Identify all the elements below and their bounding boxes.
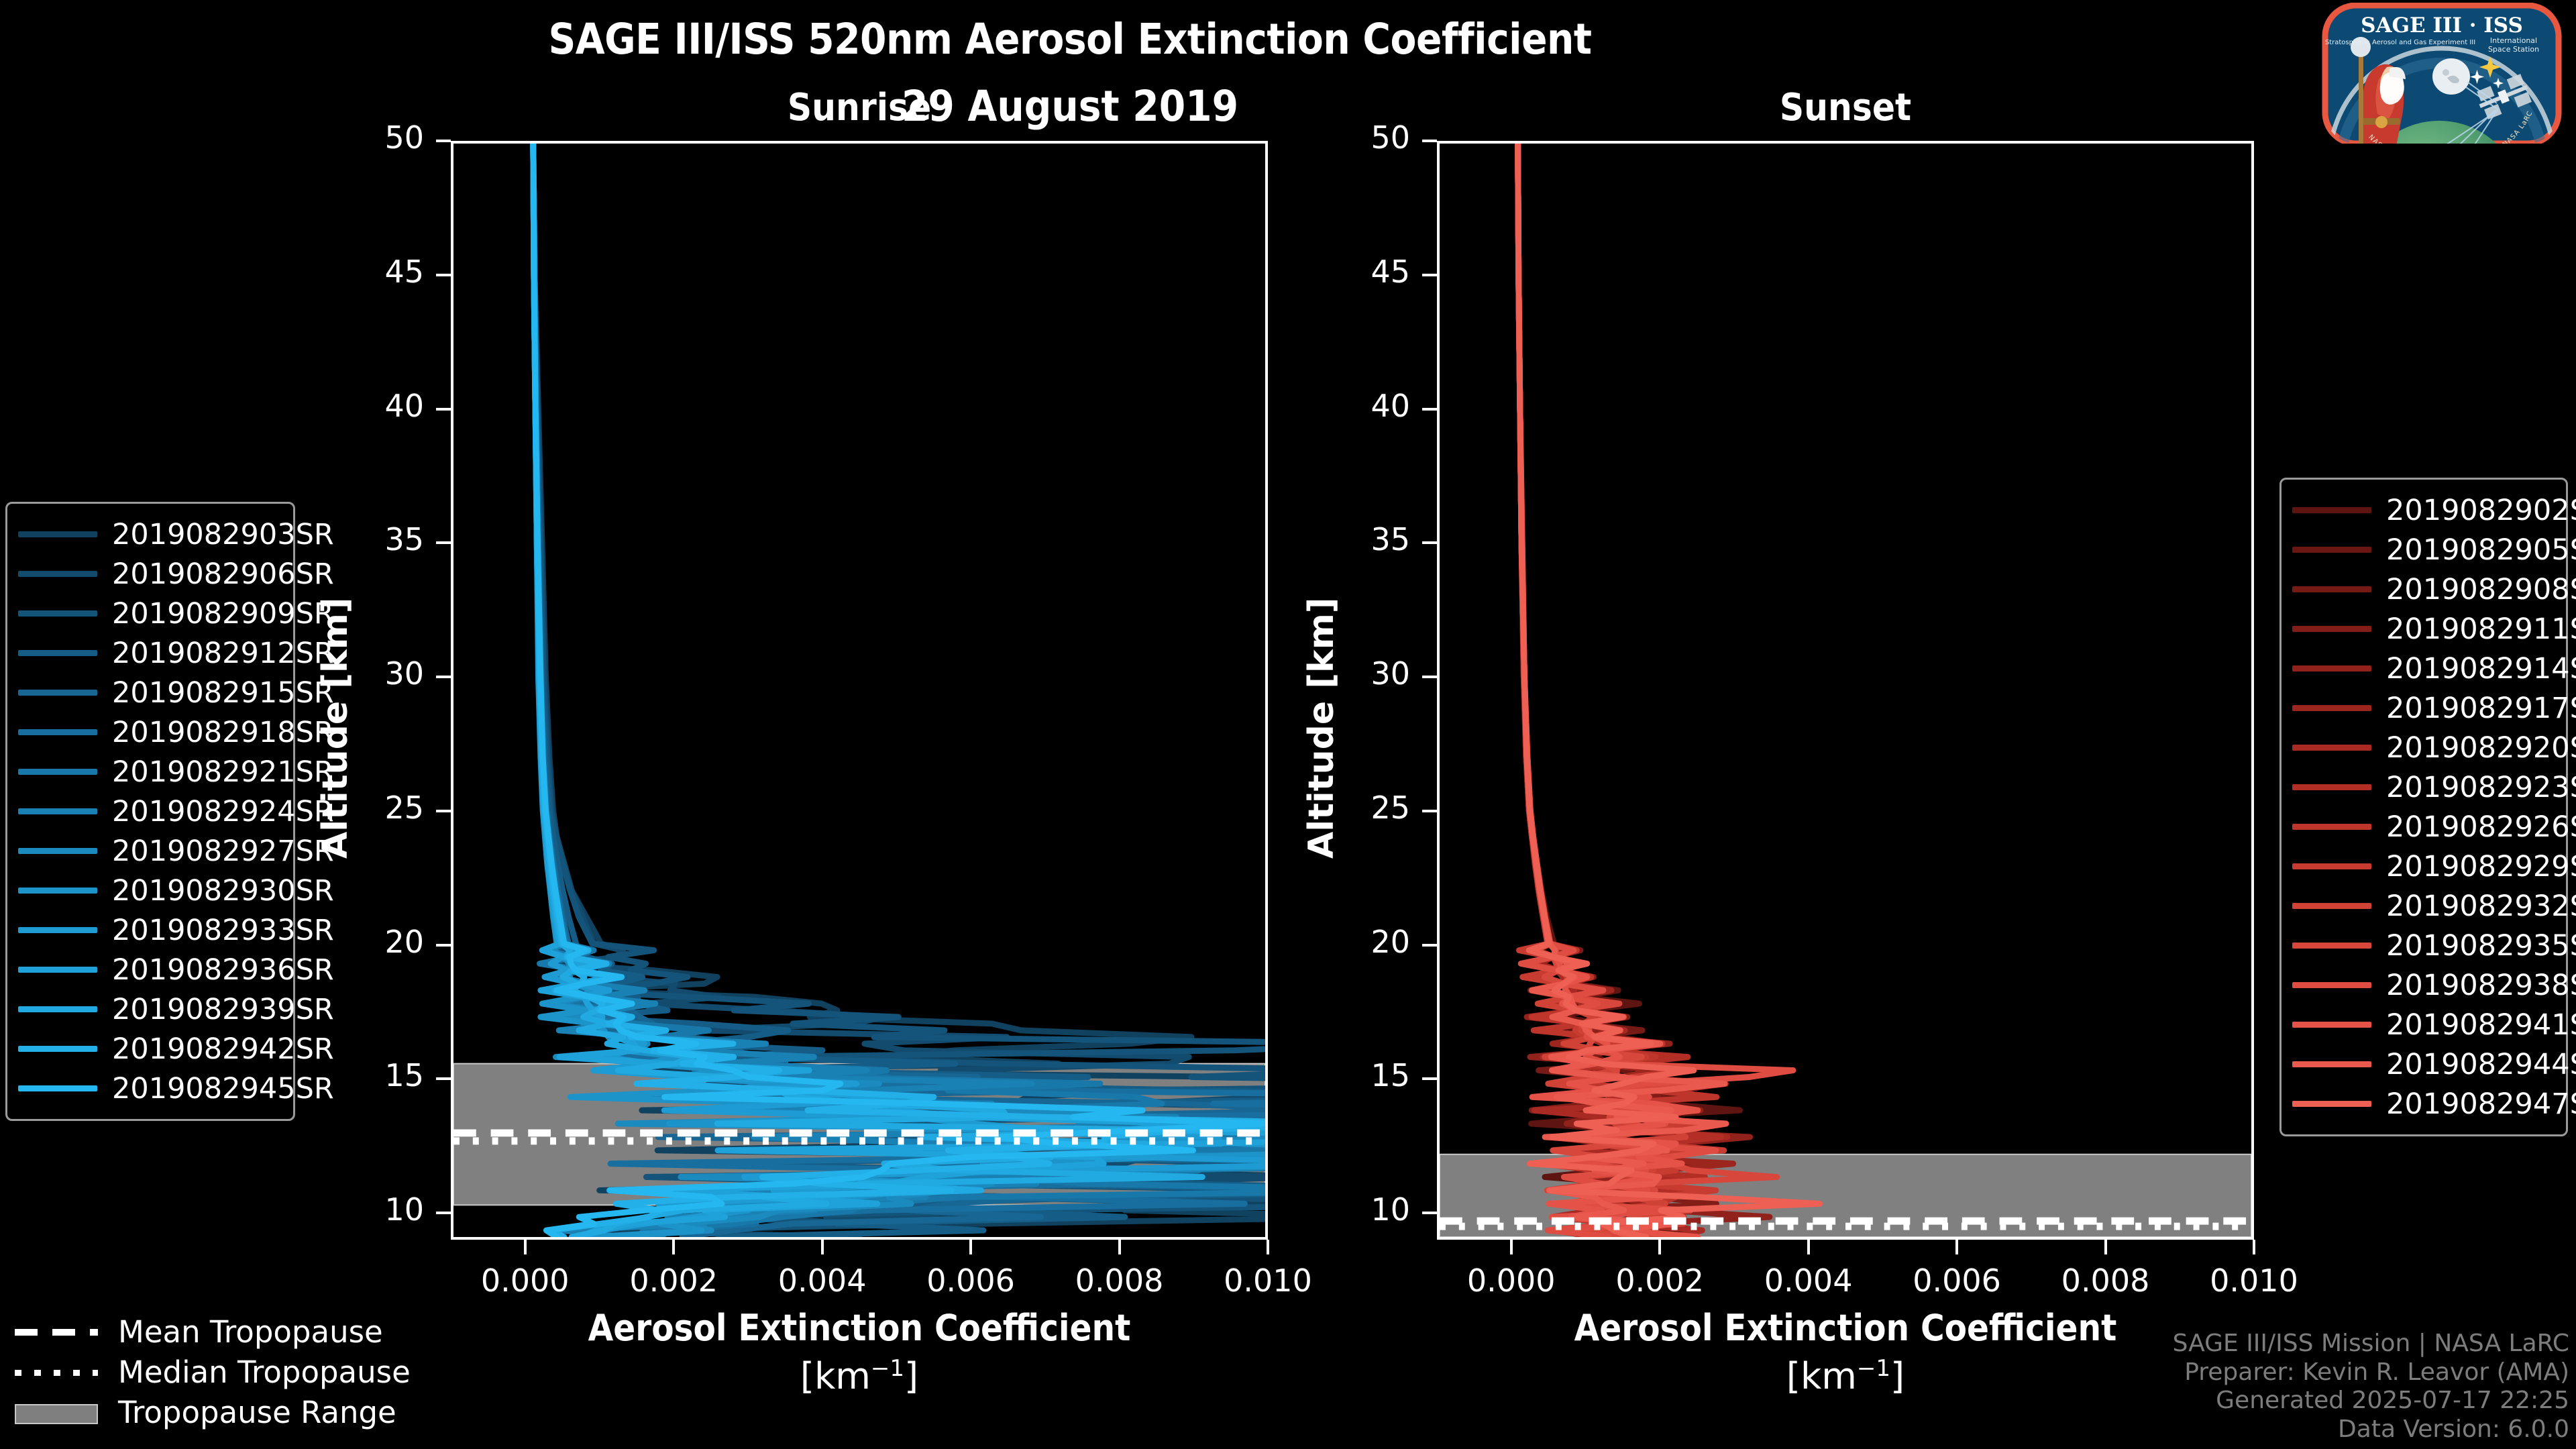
mean-tropopause-dashed-icon bbox=[9, 1322, 103, 1342]
y-tick-mark bbox=[436, 810, 451, 812]
x-tick-label: 0.006 bbox=[890, 1263, 1051, 1299]
legend-label: 2019082912SR bbox=[112, 637, 334, 670]
y-tick-label: 15 bbox=[1316, 1057, 1410, 1093]
legend-color-swatch bbox=[2292, 705, 2371, 711]
legend-item[interactable]: 2019082938SS bbox=[2292, 965, 2553, 1005]
legend-color-swatch bbox=[18, 1046, 97, 1052]
x-tick-mark bbox=[2253, 1240, 2255, 1254]
legend-label: 2019082914SS bbox=[2386, 652, 2576, 686]
y-tick-mark bbox=[1422, 1212, 1437, 1214]
legend-color-swatch bbox=[2292, 784, 2371, 790]
x-tick-label: 0.000 bbox=[1431, 1263, 1592, 1299]
legend-item[interactable]: 2019082942SR bbox=[18, 1029, 280, 1069]
y-tick-mark bbox=[436, 274, 451, 276]
x-tick-mark bbox=[1267, 1240, 1269, 1254]
legend-label: 2019082923SS bbox=[2386, 771, 2576, 804]
x-tick-mark bbox=[524, 1240, 527, 1254]
sunset-plot-canvas bbox=[1440, 144, 2251, 1237]
legend-item[interactable]: 2019082936SR bbox=[18, 950, 280, 989]
legend-item[interactable]: 2019082908SS bbox=[2292, 570, 2553, 609]
y-tick-mark bbox=[436, 1077, 451, 1080]
legend-item-median-tropopause: Median Tropopause bbox=[9, 1352, 358, 1392]
x-tick-mark bbox=[1510, 1240, 1513, 1254]
legend-item[interactable]: 2019082903SR bbox=[18, 515, 280, 554]
legend-label: 2019082932SS bbox=[2386, 890, 2576, 923]
legend-item[interactable]: 2019082930SR bbox=[18, 871, 280, 910]
legend-label: 2019082908SS bbox=[2386, 573, 2576, 606]
tropopause-range-band-icon bbox=[9, 1402, 103, 1422]
legend-item[interactable]: 2019082929SS bbox=[2292, 847, 2553, 886]
unit-suffix: ] bbox=[904, 1355, 918, 1397]
sunset-event-legend[interactable]: 2019082902SS2019082905SS2019082908SS2019… bbox=[2279, 478, 2568, 1136]
legend-color-swatch bbox=[2292, 586, 2371, 592]
legend-item[interactable]: 2019082924SR bbox=[18, 792, 280, 831]
tropopause-legend: Mean Tropopause Median Tropopause Tropop… bbox=[9, 1311, 358, 1432]
legend-item[interactable]: 2019082917SS bbox=[2292, 688, 2553, 728]
legend-item[interactable]: 2019082902SS bbox=[2292, 490, 2553, 530]
y-tick-label: 15 bbox=[330, 1057, 424, 1093]
legend-color-swatch bbox=[18, 769, 97, 775]
legend-color-swatch bbox=[2292, 863, 2371, 869]
y-tick-label: 20 bbox=[1316, 924, 1410, 960]
legend-color-swatch bbox=[2292, 1101, 2371, 1107]
y-tick-label: 10 bbox=[1316, 1191, 1410, 1228]
median-tropopause-dotted-icon bbox=[9, 1362, 103, 1382]
legend-item[interactable]: 2019082933SR bbox=[18, 910, 280, 950]
legend-label: 2019082906SR bbox=[112, 557, 334, 591]
unit-suffix: ] bbox=[1890, 1355, 1904, 1397]
legend-color-swatch bbox=[18, 1085, 97, 1091]
x-tick-label: 0.002 bbox=[1579, 1263, 1740, 1299]
unit-prefix: [km bbox=[1786, 1355, 1857, 1397]
y-tick-label: 10 bbox=[330, 1191, 424, 1228]
x-tick-mark bbox=[1807, 1240, 1810, 1254]
legend-item[interactable]: 2019082906SR bbox=[18, 554, 280, 594]
legend-color-swatch bbox=[2292, 547, 2371, 553]
legend-label: Median Tropopause bbox=[118, 1354, 411, 1390]
legend-color-swatch bbox=[2292, 745, 2371, 751]
x-tick-mark bbox=[1118, 1240, 1121, 1254]
x-tick-label: 0.010 bbox=[2173, 1263, 2334, 1299]
legend-item[interactable]: 2019082918SR bbox=[18, 712, 280, 752]
legend-label: 2019082926SS bbox=[2386, 810, 2576, 844]
legend-label: 2019082942SR bbox=[112, 1032, 334, 1066]
sunset-panel-title: Sunset bbox=[1437, 86, 2254, 129]
legend-item[interactable]: 2019082921SR bbox=[18, 752, 280, 792]
legend-item[interactable]: 2019082927SR bbox=[18, 831, 280, 871]
y-tick-mark bbox=[1422, 676, 1437, 678]
y-tick-label: 35 bbox=[1316, 521, 1410, 557]
legend-color-swatch bbox=[18, 808, 97, 814]
legend-item[interactable]: 2019082909SR bbox=[18, 594, 280, 633]
legend-label: 2019082939SR bbox=[112, 993, 334, 1026]
legend-label: 2019082935SS bbox=[2386, 929, 2576, 963]
y-tick-label: 40 bbox=[1316, 388, 1410, 424]
legend-color-swatch bbox=[18, 967, 97, 973]
legend-color-swatch bbox=[2292, 824, 2371, 830]
legend-label: 2019082933SR bbox=[112, 914, 334, 947]
legend-item[interactable]: 2019082912SR bbox=[18, 633, 280, 673]
logo-subtitle-right-1: International bbox=[2490, 36, 2537, 45]
sunrise-plot-canvas bbox=[453, 144, 1265, 1237]
legend-color-swatch bbox=[2292, 626, 2371, 632]
y-tick-label: 50 bbox=[1316, 119, 1410, 156]
legend-label: 2019082944SS bbox=[2386, 1048, 2576, 1081]
legend-color-swatch bbox=[18, 531, 97, 537]
legend-item[interactable]: 2019082939SR bbox=[18, 989, 280, 1029]
legend-item[interactable]: 2019082920SS bbox=[2292, 728, 2553, 767]
legend-label: 2019082947SS bbox=[2386, 1087, 2576, 1121]
y-tick-mark bbox=[1422, 944, 1437, 947]
y-tick-label: 50 bbox=[330, 119, 424, 156]
y-tick-mark bbox=[1422, 140, 1437, 142]
sunrise-x-axis-unit: [km−1] bbox=[451, 1355, 1268, 1397]
legend-item[interactable]: 2019082905SS bbox=[2292, 530, 2553, 570]
legend-label: 2019082920SS bbox=[2386, 731, 2576, 765]
legend-color-swatch bbox=[2292, 665, 2371, 672]
legend-color-swatch bbox=[18, 650, 97, 656]
credit-line-mission: SAGE III/ISS Mission | NASA LaRC bbox=[2173, 1330, 2569, 1358]
unit-exponent: −1 bbox=[871, 1355, 904, 1382]
legend-label: 2019082929SS bbox=[2386, 850, 2576, 883]
legend-color-swatch bbox=[2292, 1022, 2371, 1028]
y-tick-mark bbox=[1422, 1077, 1437, 1080]
x-tick-label: 0.000 bbox=[445, 1263, 606, 1299]
y-tick-mark bbox=[1422, 810, 1437, 812]
sunrise-x-axis-label: Aerosol Extinction Coefficient bbox=[451, 1307, 1268, 1349]
legend-label: 2019082909SR bbox=[112, 597, 334, 631]
y-tick-label: 45 bbox=[330, 254, 424, 290]
y-tick-mark bbox=[436, 408, 451, 411]
logo-subtitle-left: Stratospheric Aerosol and Gas Experiment… bbox=[2325, 39, 2475, 46]
legend-label: Tropopause Range bbox=[118, 1395, 396, 1430]
legend-color-swatch bbox=[2292, 943, 2371, 949]
legend-item[interactable]: 2019082945SR bbox=[18, 1069, 280, 1108]
credits-block: SAGE III/ISS Mission | NASA LaRC Prepare… bbox=[2173, 1330, 2569, 1444]
legend-label: 2019082927SR bbox=[112, 835, 334, 868]
legend-item[interactable]: 2019082911SS bbox=[2292, 609, 2553, 649]
legend-item[interactable]: 2019082932SS bbox=[2292, 886, 2553, 926]
y-tick-label: 40 bbox=[330, 388, 424, 424]
legend-color-swatch bbox=[18, 690, 97, 696]
x-tick-label: 0.008 bbox=[2025, 1263, 2186, 1299]
x-tick-mark bbox=[1955, 1240, 1958, 1254]
legend-item[interactable]: 2019082935SS bbox=[2292, 926, 2553, 965]
legend-label: 2019082917SS bbox=[2386, 692, 2576, 725]
x-tick-mark bbox=[1658, 1240, 1661, 1254]
x-tick-label: 0.004 bbox=[1728, 1263, 1889, 1299]
legend-color-swatch bbox=[18, 888, 97, 894]
legend-label: 2019082915SR bbox=[112, 676, 334, 710]
y-tick-label: 20 bbox=[330, 924, 424, 960]
legend-item[interactable]: 2019082941SS bbox=[2292, 1005, 2553, 1044]
legend-item[interactable]: 2019082923SS bbox=[2292, 767, 2553, 807]
legend-item[interactable]: 2019082926SS bbox=[2292, 807, 2553, 847]
sunrise-event-legend[interactable]: 2019082903SR2019082906SR2019082909SR2019… bbox=[5, 502, 295, 1121]
legend-label: 2019082921SR bbox=[112, 755, 334, 789]
legend-item[interactable]: 2019082944SS bbox=[2292, 1044, 2553, 1084]
legend-color-swatch bbox=[2292, 903, 2371, 909]
y-tick-mark bbox=[1422, 541, 1437, 544]
legend-color-swatch bbox=[18, 1006, 97, 1012]
sage-iii-iss-logo: SAGE III · ISS Stratospheric Aerosol and… bbox=[2314, 3, 2569, 144]
x-tick-label: 0.006 bbox=[1876, 1263, 2037, 1299]
legend-item[interactable]: 2019082915SR bbox=[18, 673, 280, 712]
logo-subtitle-right-2: Space Station bbox=[2488, 45, 2539, 54]
sunrise-panel-title: Sunrise bbox=[451, 86, 1268, 129]
logo-title: SAGE III · ISS bbox=[2361, 13, 2523, 38]
legend-color-swatch bbox=[18, 571, 97, 577]
y-tick-mark bbox=[1422, 274, 1437, 276]
x-tick-label: 0.008 bbox=[1039, 1263, 1200, 1299]
unit-prefix: [km bbox=[800, 1355, 871, 1397]
legend-label: 2019082911SS bbox=[2386, 612, 2576, 646]
y-tick-label: 35 bbox=[330, 521, 424, 557]
legend-color-swatch bbox=[18, 848, 97, 854]
x-tick-label: 0.002 bbox=[593, 1263, 754, 1299]
y-tick-mark bbox=[436, 140, 451, 142]
legend-color-swatch bbox=[18, 927, 97, 933]
x-tick-label: 0.010 bbox=[1187, 1263, 1348, 1299]
legend-label: 2019082938SS bbox=[2386, 969, 2576, 1002]
sunset-x-axis-label: Aerosol Extinction Coefficient bbox=[1437, 1307, 2254, 1349]
credit-line-generated: Generated 2025-07-17 22:25 bbox=[2173, 1387, 2569, 1415]
legend-item-mean-tropopause: Mean Tropopause bbox=[9, 1311, 358, 1352]
legend-item-tropopause-range: Tropopause Range bbox=[9, 1392, 358, 1432]
legend-label: 2019082945SR bbox=[112, 1072, 334, 1106]
y-tick-mark bbox=[436, 676, 451, 678]
legend-label: 2019082903SR bbox=[112, 518, 334, 551]
y-tick-label: 45 bbox=[1316, 254, 1410, 290]
x-tick-label: 0.004 bbox=[742, 1263, 903, 1299]
legend-label: 2019082941SS bbox=[2386, 1008, 2576, 1042]
legend-color-swatch bbox=[2292, 982, 2371, 988]
credit-line-preparer: Preparer: Kevin R. Leavor (AMA) bbox=[2173, 1358, 2569, 1387]
mission-patch-icon: SAGE III · ISS Stratospheric Aerosol and… bbox=[2314, 3, 2569, 144]
credit-line-version: Data Version: 6.0.0 bbox=[2173, 1415, 2569, 1444]
legend-label: 2019082918SR bbox=[112, 716, 334, 749]
y-tick-mark bbox=[436, 944, 451, 947]
legend-label: 2019082936SR bbox=[112, 953, 334, 987]
legend-label: 2019082902SS bbox=[2386, 494, 2576, 527]
legend-color-swatch bbox=[18, 729, 97, 735]
x-tick-mark bbox=[2104, 1240, 2107, 1254]
y-tick-mark bbox=[436, 541, 451, 544]
legend-color-swatch bbox=[2292, 507, 2371, 513]
legend-item[interactable]: 2019082914SS bbox=[2292, 649, 2553, 688]
sunset-y-axis-label: Altitude [km] bbox=[1301, 597, 1342, 859]
x-tick-mark bbox=[821, 1240, 824, 1254]
page-title: SAGE III/ISS 520nm Aerosol Extinction Co… bbox=[0, 15, 2140, 64]
legend-label: 2019082930SR bbox=[112, 874, 334, 908]
x-tick-mark bbox=[672, 1240, 675, 1254]
x-tick-mark bbox=[969, 1240, 972, 1254]
legend-label: 2019082905SS bbox=[2386, 533, 2576, 567]
y-tick-mark bbox=[436, 1212, 451, 1214]
legend-color-swatch bbox=[18, 610, 97, 616]
unit-exponent: −1 bbox=[1857, 1355, 1890, 1382]
sunrise-plot-area bbox=[451, 141, 1268, 1240]
legend-item[interactable]: 2019082947SS bbox=[2292, 1084, 2553, 1124]
sunset-plot-area bbox=[1437, 141, 2254, 1240]
legend-color-swatch bbox=[2292, 1061, 2371, 1067]
y-tick-mark bbox=[1422, 408, 1437, 411]
legend-label: Mean Tropopause bbox=[118, 1314, 383, 1350]
legend-label: 2019082924SR bbox=[112, 795, 334, 828]
sunset-x-axis-unit: [km−1] bbox=[1437, 1355, 2254, 1397]
